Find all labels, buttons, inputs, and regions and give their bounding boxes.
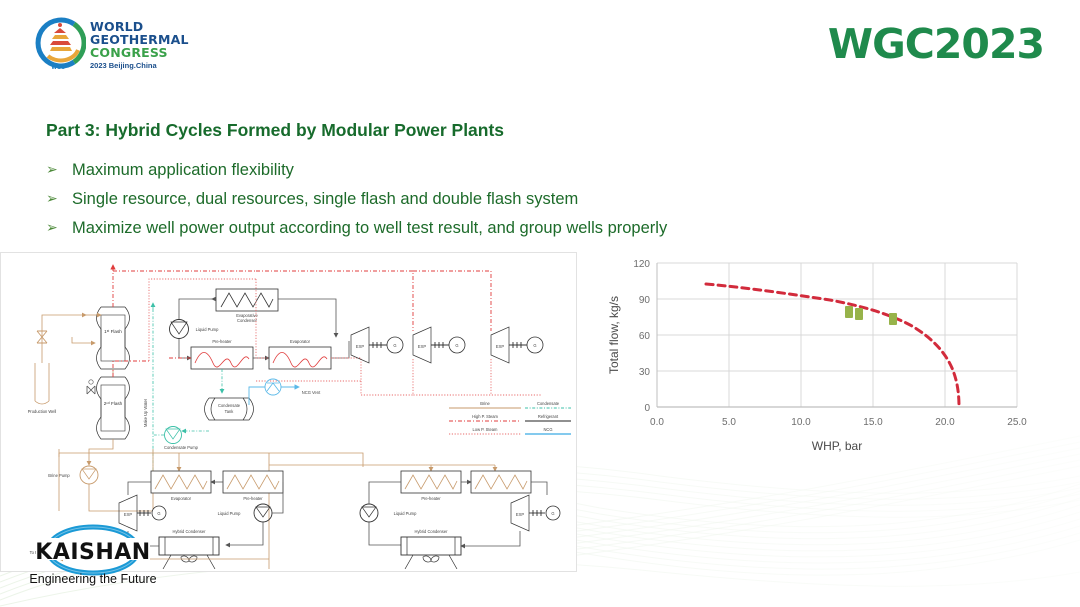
chart-y-axis: 120 90 60 30 0 Total flow, kg/s xyxy=(607,259,650,414)
evaporator-bottom-left: Evaporator xyxy=(151,471,211,501)
legend-item-refrigerant: Refrigerant xyxy=(525,414,571,421)
x-tick-3: 15.0 xyxy=(863,417,883,428)
condensate-tank: Condensate Tank xyxy=(205,398,254,420)
condensate-tank-label-2: Tank xyxy=(225,409,235,414)
legend-item-ncg: NCG xyxy=(525,427,571,434)
logo-line-congress: CONGRESS xyxy=(90,46,189,59)
legend-label-3: Condensate xyxy=(537,401,560,406)
legend-item-high-p-steam: High P. Steam xyxy=(449,414,521,421)
liquid-pump-bl-label: Liquid Pump xyxy=(218,511,241,516)
bullet-list: ➢ Maximum application flexibility ➢ Sing… xyxy=(46,158,667,245)
arrow-bullet-icon: ➢ xyxy=(46,158,72,183)
condensate-pump-label: Condensate Pump xyxy=(164,445,199,450)
liquid-pump-top-label: Liquid Pump xyxy=(196,327,219,332)
liquid-pump-br-label: Liquid Pump xyxy=(394,511,417,516)
wgc-emblem-icon: WGC xyxy=(34,14,86,76)
brine-pump: Brine Pump xyxy=(48,466,98,484)
generator-label-bl: G xyxy=(157,511,160,516)
evaporator-top: Evaporator xyxy=(269,339,331,369)
pre-heater-top-label: Pre-heater xyxy=(212,339,232,344)
y-tick-0: 0 xyxy=(644,403,650,414)
legend-label-0: Brine xyxy=(480,401,490,406)
y-axis-label: Total flow, kg/s xyxy=(607,296,621,374)
chart-svg: .tick{font-family:"Liberation Sans",sans… xyxy=(600,250,1040,480)
turbine-bottom-right: EXP G xyxy=(511,495,560,531)
y-tick-3: 90 xyxy=(639,295,651,306)
exp-label-2: EXP xyxy=(418,344,426,349)
make-up-water-label: Make Up Water xyxy=(143,398,148,427)
x-tick-2: 10.0 xyxy=(791,417,811,428)
congress-logo-text: WORLD GEOTHERMAL CONGRESS 2023 Beijing.C… xyxy=(90,20,189,70)
second-flash-vessel: 2ⁿᵈ Flash xyxy=(97,377,130,439)
first-flash-vessel: 1ˢᵗ Flash xyxy=(97,307,130,369)
world-geothermal-congress-logo: WGC WORLD GEOTHERMAL CONGRESS 2023 Beiji… xyxy=(34,14,174,82)
list-item: ➢ Single resource, dual resources, singl… xyxy=(46,187,667,212)
production-well-label: Production Well xyxy=(28,409,57,414)
y-tick-4: 120 xyxy=(633,259,650,270)
y-tick-2: 60 xyxy=(639,331,651,342)
evaporator-bl-label: Evaporator xyxy=(171,496,192,501)
legend-label-4: Refrigerant xyxy=(538,414,559,419)
legend-item-low-p-steam: Low P. Steam xyxy=(449,427,521,434)
exp-label-1: EXP xyxy=(356,344,364,349)
pre-heater-bl-label: Pre-heater xyxy=(243,496,263,501)
condensate-pump: Condensate Pump xyxy=(164,427,199,451)
pre-heater-bottom-right: Pre-heater xyxy=(401,471,461,501)
legend-item-condensate: Condensate xyxy=(525,401,571,408)
logo-line-location: 2023 Beijing.China xyxy=(90,61,189,70)
list-item-label: Maximum application flexibility xyxy=(72,158,294,183)
legend-label-2: Low P. Steam xyxy=(473,427,499,432)
exp-label-3: EXP xyxy=(496,344,504,349)
exp-label-br: EXP xyxy=(516,512,524,517)
generator-label-2: G xyxy=(455,343,458,348)
data-point-marker xyxy=(889,313,897,325)
evaporative-condenser: Evaporative Condenser xyxy=(216,289,278,323)
kaishan-logo: KAISHAN Engineering the Future xyxy=(18,524,168,596)
list-item: ➢ Maximum application flexibility xyxy=(46,158,667,183)
hybrid-condenser-bottom-right: Hybrid Condenser xyxy=(401,529,461,569)
process-flow-svg: .lbl{font-family:"Liberation Sans",sans-… xyxy=(1,253,574,569)
liquid-pump-top: Liquid Pump xyxy=(170,320,220,339)
generator-label-1: G xyxy=(393,343,396,348)
kaishan-wordmark: KAISHAN xyxy=(26,540,160,565)
arrow-bullet-icon: ➢ xyxy=(46,187,72,212)
second-flash-label: 2ⁿᵈ Flash xyxy=(104,401,123,406)
hybrid-condenser-bl-label: Hybrid Condenser xyxy=(173,529,207,534)
liquid-pump-bottom-left: Liquid Pump xyxy=(218,504,272,522)
generator-label-br: G xyxy=(551,511,554,516)
chart-x-axis: 0.0 5.0 10.0 15.0 20.0 25.0 WHP, bar xyxy=(650,417,1027,453)
first-flash-label-1: 1ˢᵗ Flash xyxy=(104,329,122,334)
chart-series-deliverability-curve xyxy=(706,284,959,407)
evaporator-bottom-right xyxy=(471,471,531,493)
well-deliverability-chart: .tick{font-family:"Liberation Sans",sans… xyxy=(600,250,1040,480)
list-item-label: Single resource, dual resources, single … xyxy=(72,187,578,212)
fan-icon xyxy=(423,556,439,562)
legend-item-brine: Brine xyxy=(449,401,521,408)
data-point-marker xyxy=(845,306,853,318)
legend-label-1: High P. Steam xyxy=(472,414,498,419)
ncg-vent-label: NCG Vent xyxy=(302,390,321,395)
wgc-badge-text: WGC xyxy=(51,65,65,71)
pre-heater-top: Pre-heater xyxy=(191,339,253,369)
throttle-valve-icon xyxy=(87,380,95,394)
generator-label-3: G xyxy=(533,343,536,348)
turbine-group-3: EXP G xyxy=(491,327,543,363)
x-tick-5: 25.0 xyxy=(1007,417,1027,428)
kaishan-tagline: Engineering the Future xyxy=(18,572,168,586)
data-point-marker xyxy=(855,308,863,320)
x-axis-label: WHP, bar xyxy=(812,439,862,453)
liquid-pump-bottom-right: Liquid Pump xyxy=(360,504,417,522)
x-tick-4: 20.0 xyxy=(935,417,955,428)
hybrid-condenser-br-label: Hybrid Condenser xyxy=(415,529,449,534)
pre-heater-br-label: Pre-heater xyxy=(421,496,441,501)
legend-label-5: NCG xyxy=(543,427,552,432)
list-item: ➢ Maximize well power output according t… xyxy=(46,216,667,241)
y-tick-1: 30 xyxy=(639,367,651,378)
turbine-group-1: EXP G xyxy=(351,327,403,363)
x-tick-0: 0.0 xyxy=(650,417,664,428)
arrow-bullet-icon: ➢ xyxy=(46,216,72,241)
evaporative-condenser-label-2: Condenser xyxy=(237,318,258,323)
turbine-group-2: EXP G xyxy=(413,327,465,363)
x-tick-1: 5.0 xyxy=(722,417,736,428)
production-well: Production Well xyxy=(28,315,86,414)
exp-label-bl: EXP xyxy=(124,512,132,517)
diagram-legend: Brine High P. Steam Low P. Steam Condens… xyxy=(449,401,571,434)
pre-heater-bottom-left: Pre-heater xyxy=(223,471,283,501)
list-item-label: Maximize well power output according to … xyxy=(72,216,667,241)
page-title: Part 3: Hybrid Cycles Formed by Modular … xyxy=(46,120,504,141)
brand-title: WGC2023 xyxy=(828,20,1044,68)
hybrid-condenser-bottom-left: Hybrid Condenser xyxy=(159,529,219,569)
evaporator-top-label: Evaporator xyxy=(290,339,311,344)
condensate-tank-label-1: Condensate xyxy=(218,403,241,408)
